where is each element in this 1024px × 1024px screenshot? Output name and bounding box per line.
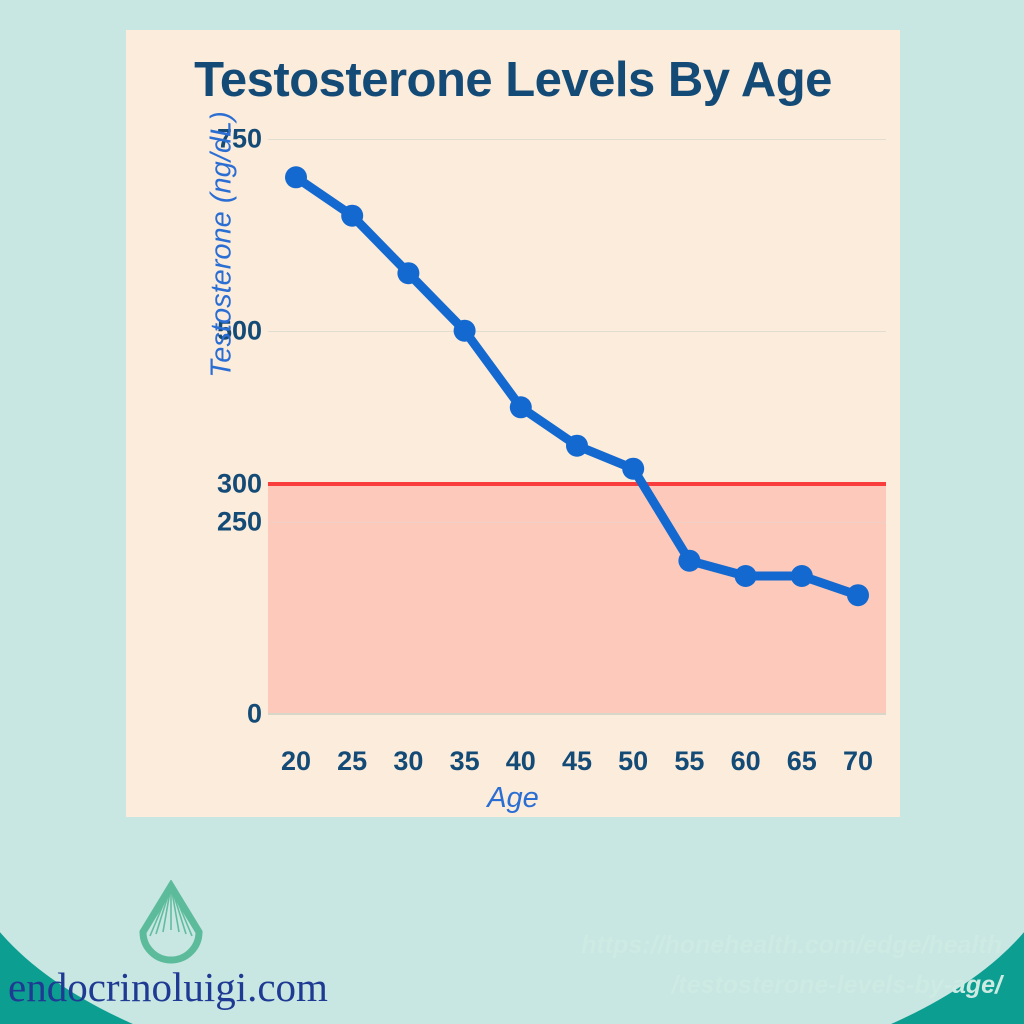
x-tick-label-35: 35 bbox=[450, 746, 480, 777]
site-name: endocrinoluigi.com bbox=[8, 963, 438, 1011]
data-point-age-25[interactable] bbox=[341, 205, 363, 227]
data-point-age-50[interactable] bbox=[622, 458, 644, 480]
x-tick-label-30: 30 bbox=[393, 746, 423, 777]
data-point-age-30[interactable] bbox=[397, 262, 419, 284]
data-point-age-65[interactable] bbox=[791, 565, 813, 587]
x-tick-label-40: 40 bbox=[506, 746, 536, 777]
data-point-age-20[interactable] bbox=[285, 166, 307, 188]
source-url: https://honehealth.com/edge/health /test… bbox=[581, 925, 1002, 1005]
water-droplet-icon bbox=[133, 880, 209, 968]
chart-card: Testosterone Levels By Age 7505003002500… bbox=[126, 30, 900, 817]
data-point-age-40[interactable] bbox=[510, 396, 532, 418]
data-point-age-35[interactable] bbox=[454, 320, 476, 342]
x-tick-label-65: 65 bbox=[787, 746, 817, 777]
x-axis-tick-labels: 2025303540455055606570 bbox=[268, 746, 886, 786]
x-tick-label-70: 70 bbox=[843, 746, 873, 777]
chart-title: Testosterone Levels By Age bbox=[126, 52, 900, 108]
x-tick-label-55: 55 bbox=[674, 746, 704, 777]
x-tick-label-25: 25 bbox=[337, 746, 367, 777]
x-tick-label-20: 20 bbox=[281, 746, 311, 777]
source-url-line-2: /testosterone-levels-by-age/ bbox=[581, 965, 1002, 1005]
y-tick-label-300: 300 bbox=[217, 469, 262, 500]
data-point-age-45[interactable] bbox=[566, 435, 588, 457]
line-series-testosterone bbox=[268, 139, 886, 714]
y-axis-label: Testosterone (ng/dL) bbox=[206, 75, 239, 415]
data-point-age-55[interactable] bbox=[678, 550, 700, 572]
plot-area bbox=[268, 139, 886, 714]
data-point-age-70[interactable] bbox=[847, 584, 869, 606]
source-url-line-1: https://honehealth.com/edge/health bbox=[581, 925, 1002, 965]
y-tick-label-0: 0 bbox=[247, 699, 262, 730]
y-tick-label-250: 250 bbox=[217, 507, 262, 538]
x-tick-label-45: 45 bbox=[562, 746, 592, 777]
x-tick-label-50: 50 bbox=[618, 746, 648, 777]
x-tick-label-60: 60 bbox=[731, 746, 761, 777]
x-axis-label: Age bbox=[126, 782, 900, 815]
data-point-age-60[interactable] bbox=[735, 565, 757, 587]
